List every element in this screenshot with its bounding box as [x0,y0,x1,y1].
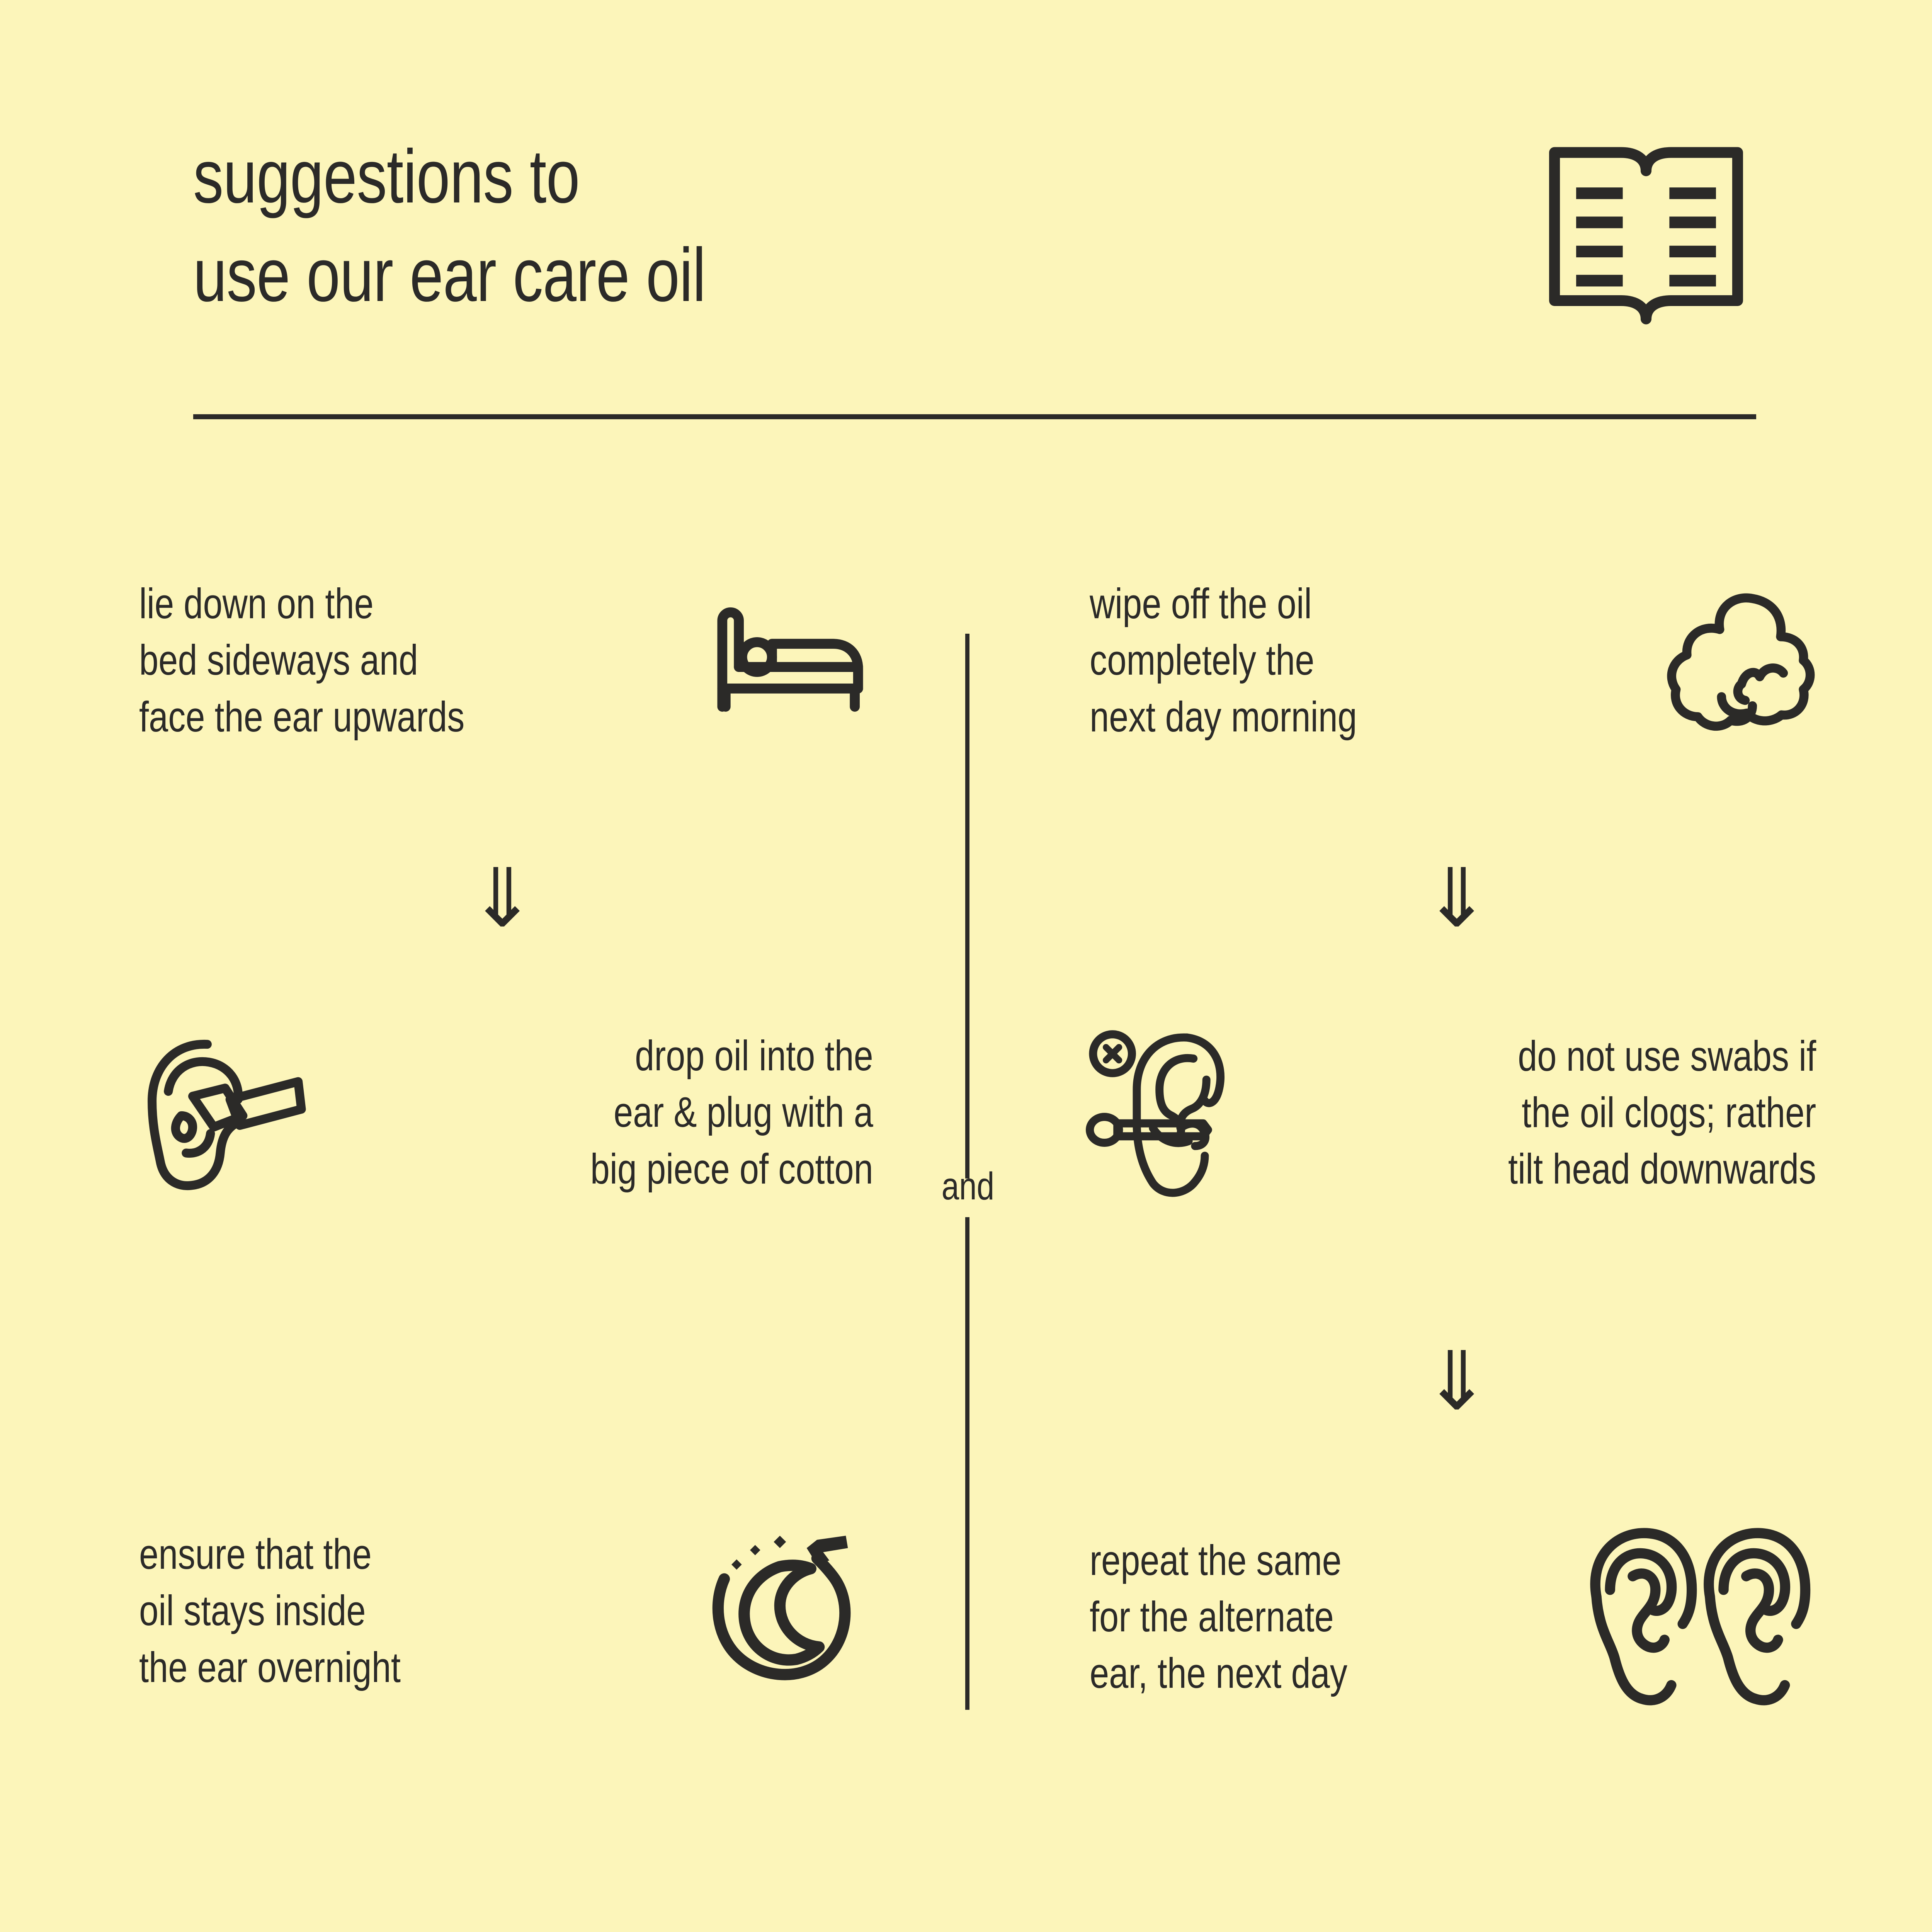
step-right-3: repeat the same for the alternate ear, t… [1090,1526,1816,1708]
arrow-left-1: ⇓ [452,858,553,939]
cotton-balls-icon [1662,587,1816,734]
step-right-3-text: repeat the same for the alternate ear, t… [1090,1532,1347,1702]
header: suggestions to use our ear care oil [193,128,1754,421]
moon-overnight-icon [707,1534,873,1688]
infographic-page: suggestions to use our ear care oil [0,0,1932,1932]
step-left-1-text: lie down on the bed sideways and face th… [139,576,464,745]
step-left-2: drop oil into the ear & plug with a big … [139,1028,873,1197]
open-book-icon [1538,135,1754,336]
arrow-right-1: ⇓ [1406,858,1507,939]
page-title: suggestions to use our ear care oil [193,128,706,325]
two-ears-icon [1577,1526,1816,1708]
step-left-3: ensure that the oil stays inside the ear… [139,1526,873,1696]
step-right-2-text: do not use swabs if the oil clogs; rathe… [1508,1028,1816,1198]
column-divider-top [965,634,969,1179]
column-divider-bottom [965,1217,969,1710]
no-swab-ear-icon [1090,1028,1252,1198]
step-right-2: do not use swabs if the oil clogs; rathe… [1090,1028,1816,1198]
step-right-1: wipe off the oil completely the next day… [1090,576,1816,745]
and-connector-label: and [932,1167,1005,1206]
step-left-2-text: drop oil into the ear & plug with a big … [590,1028,873,1197]
arrow-right-2: ⇓ [1406,1341,1507,1422]
ear-dropper-icon [139,1031,301,1194]
step-right-1-text: wipe off the oil completely the next day… [1090,576,1357,745]
bed-icon [707,602,873,718]
steps-grid: and lie down on the bed sideways and fac… [0,560,1932,1874]
header-divider [193,414,1756,419]
step-left-3-text: ensure that the oil stays inside the ear… [139,1526,401,1696]
step-left-1: lie down on the bed sideways and face th… [139,576,873,745]
